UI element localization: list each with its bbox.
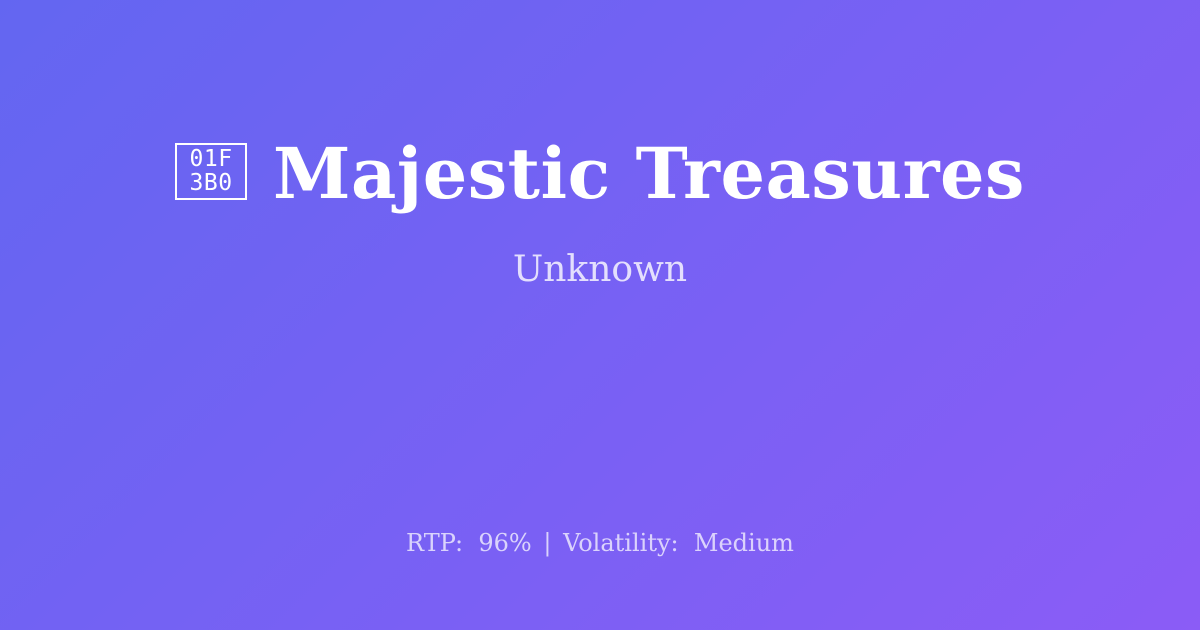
- og-share-card: 01F 3B0 Majestic Treasures Unknown RTP: …: [0, 0, 1200, 630]
- page-title: 01F 3B0 Majestic Treasures: [175, 134, 1025, 214]
- rtp-label: RTP:: [406, 529, 463, 557]
- volatility-label: Volatility:: [563, 529, 679, 557]
- slot-machine-icon: 01F 3B0: [175, 143, 247, 200]
- game-meta-line: RTP: 96% | Volatility: Medium: [0, 528, 1200, 558]
- game-provider-subtitle: Unknown: [513, 248, 687, 292]
- volatility-value: Medium: [694, 529, 794, 557]
- slot-machine-icon-codepoint-hi: 01F: [190, 147, 233, 171]
- slot-machine-icon-codepoint-lo: 3B0: [190, 171, 233, 195]
- meta-separator: |: [539, 529, 555, 557]
- rtp-value: 96%: [478, 529, 531, 557]
- game-title-text: Majestic Treasures: [273, 134, 1025, 214]
- title-block: 01F 3B0 Majestic Treasures Unknown: [0, 0, 1200, 470]
